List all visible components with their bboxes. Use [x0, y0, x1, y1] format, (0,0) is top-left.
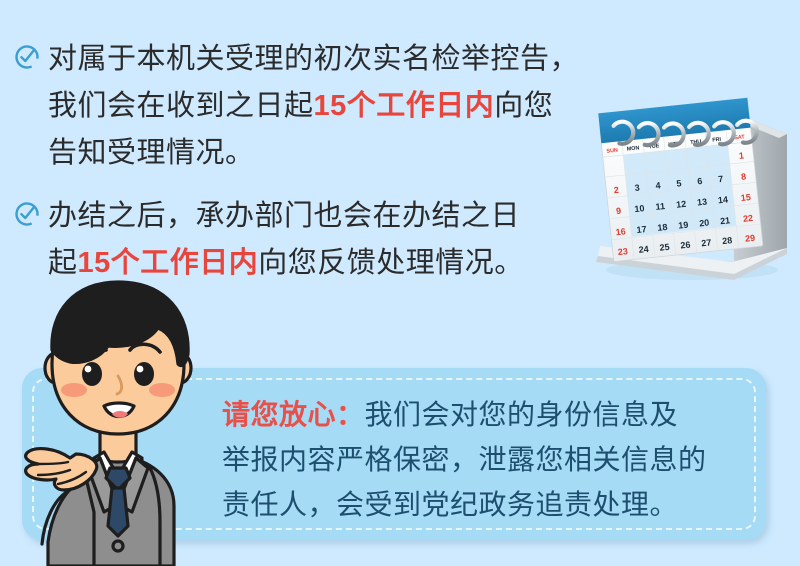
svg-text:26: 26 [680, 240, 691, 251]
svg-text:18: 18 [657, 222, 668, 233]
svg-text:14: 14 [717, 194, 728, 205]
note-line3: 责任人，会受到党纪政务追责处理。 [222, 489, 678, 520]
svg-text:16: 16 [615, 226, 626, 237]
svg-text:17: 17 [636, 224, 647, 235]
bullet2-line1: 办结之后，承办部门也会在办结之日 [48, 200, 520, 232]
list-item: 对属于本机关受理的初次实名检举控告， 我们会在收到之日起15个工作日内向您 告知… [14, 36, 614, 177]
check-circle-icon [14, 44, 40, 70]
svg-text:20: 20 [699, 217, 710, 228]
poster-canvas: 对属于本机关受理的初次实名检举控告， 我们会在收到之日起15个工作日内向您 告知… [0, 0, 800, 566]
svg-text:19: 19 [678, 220, 689, 231]
bullet1-line1: 对属于本机关受理的初次实名检举控告， [48, 43, 579, 75]
cartoon-man-illustration [8, 272, 218, 566]
note-line1: 我们会对您的身份信息及 [365, 399, 679, 430]
svg-text:28: 28 [722, 235, 733, 246]
svg-text:SUN: SUN [606, 148, 618, 155]
svg-text:12: 12 [676, 199, 687, 210]
svg-text:25: 25 [659, 242, 670, 253]
bullet-list: 对属于本机关受理的初次实名检举控告， 我们会在收到之日起15个工作日内向您 告知… [14, 36, 614, 303]
svg-text:15: 15 [740, 192, 751, 203]
svg-text:23: 23 [617, 246, 628, 257]
bullet1-line3: 告知受理情况。 [48, 137, 255, 169]
svg-text:7: 7 [718, 174, 724, 184]
desk-calendar-illustration: SUN MON TUE WED THU FRI SAT [582, 78, 800, 283]
bullet-text-1: 对属于本机关受理的初次实名检举控告， 我们会在收到之日起15个工作日内向您 告知… [48, 36, 579, 177]
svg-text:6: 6 [697, 176, 703, 186]
svg-text:22: 22 [742, 213, 753, 224]
note-line2: 举报内容严格保密，泄露您相关信息的 [222, 444, 707, 475]
svg-text:24: 24 [638, 244, 649, 255]
svg-text:SAT: SAT [734, 134, 746, 141]
svg-text:27: 27 [701, 237, 712, 248]
check-circle-icon [14, 201, 40, 227]
bullet1-line2-pre: 我们会在收到之日起 [48, 90, 314, 122]
svg-text:4: 4 [655, 180, 661, 190]
svg-text:11: 11 [655, 201, 666, 212]
svg-text:21: 21 [720, 215, 731, 226]
confidentiality-note-text: 请您放心：我们会对您的身份信息及 举报内容严格保密，泄露您相关信息的 责任人，会… [222, 392, 762, 527]
svg-text:9: 9 [615, 206, 621, 216]
svg-text:5: 5 [676, 178, 682, 188]
svg-text:29: 29 [745, 233, 756, 244]
svg-text:10: 10 [634, 203, 645, 214]
bullet1-line2-post: 向您 [494, 90, 553, 122]
svg-text:13: 13 [697, 197, 708, 208]
svg-text:2: 2 [613, 185, 619, 195]
bullet2-line2-post: 向您反馈处理情况。 [258, 247, 524, 279]
svg-text:1: 1 [738, 150, 744, 160]
note-lead-label: 请您放心： [222, 399, 365, 430]
svg-text:3: 3 [634, 183, 640, 193]
bullet1-highlight: 15个工作日内 [314, 90, 495, 122]
svg-text:8: 8 [741, 171, 747, 181]
